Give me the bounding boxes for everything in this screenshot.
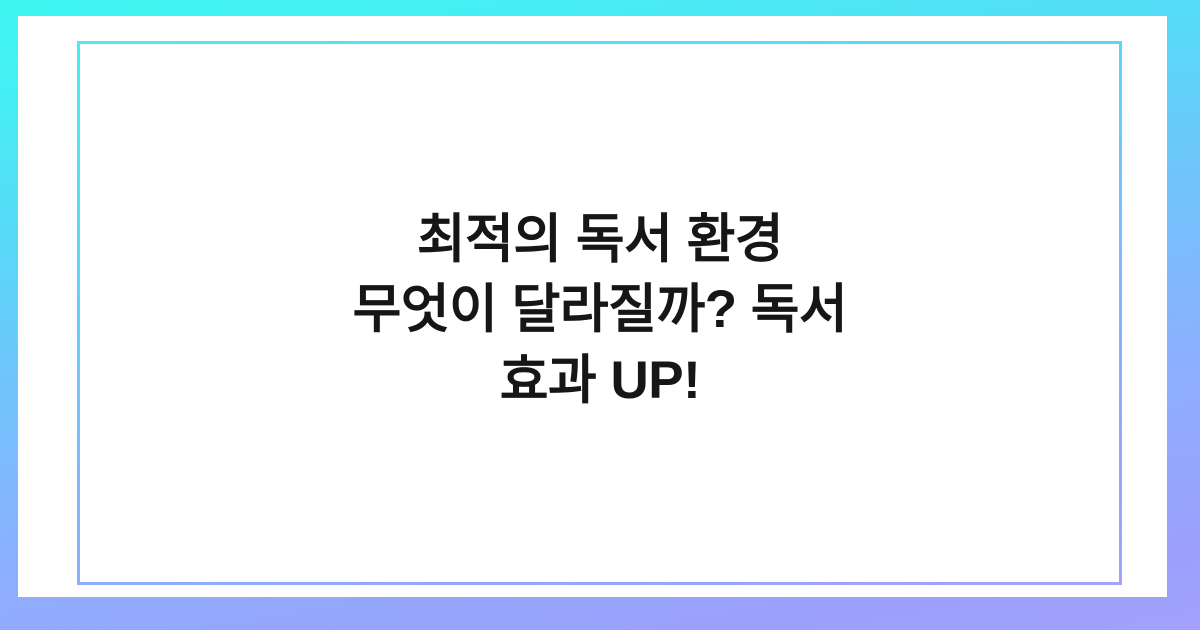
headline-line-3: 효과 UP! <box>70 346 1130 416</box>
thumbnail-card: 최적의 독서 환경 무엇이 달라질까? 독서 효과 UP! <box>0 0 1200 630</box>
headline-line-2: 무엇이 달라질까? 독서 <box>70 275 1130 345</box>
headline-line-1: 최적의 독서 환경 <box>70 205 1130 275</box>
headline: 최적의 독서 환경 무엇이 달라질까? 독서 효과 UP! <box>0 205 1200 416</box>
